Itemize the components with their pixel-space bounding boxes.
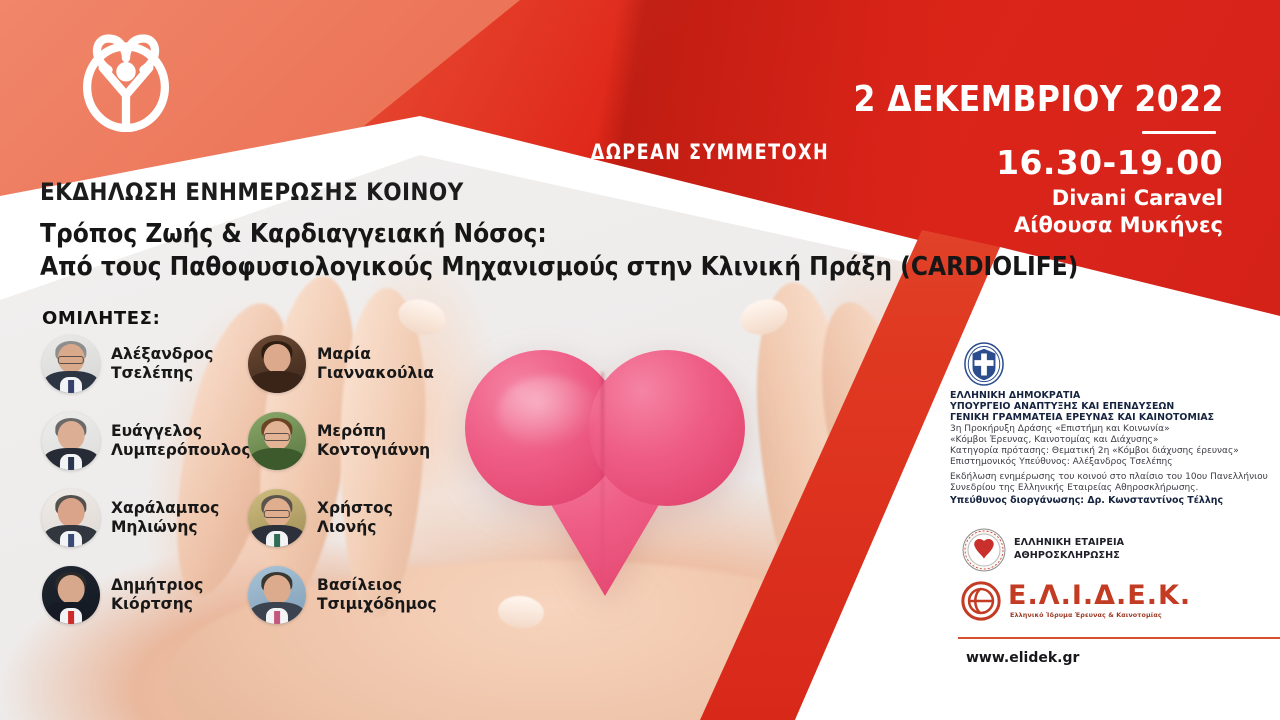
sponsor-body-line-4: Επιστημονικός Υπεύθυνος: Αλέξανδρος Τσελ…: [950, 457, 1173, 468]
speaker-name: Χρήστος Λιονής: [317, 499, 393, 537]
organizer-line: Υπεύθυνος διοργάνωσης: Δρ. Κωνσταντίνος …: [950, 495, 1223, 506]
greek-coat-of-arms-icon: [963, 341, 1005, 387]
venue-hall: Αίθουσα Μυκήνες: [1014, 213, 1223, 237]
avatar: [42, 335, 100, 393]
avatar: [248, 412, 306, 470]
sponsor-body-line-5: Εκδήλωση ενημέρωσης του κοινού στο πλαίσ…: [950, 472, 1268, 483]
speaker-item: Δημήτριος Κιόρτσης: [42, 566, 203, 624]
speaker-name: Μαρία Γιαννακούλια: [317, 345, 434, 383]
divider-rule: [1142, 131, 1216, 134]
speaker-item: Αλέξανδρος Τσελέπης: [42, 335, 213, 393]
speakers-label: ΟΜΙΛΗΤΕΣ:: [42, 308, 160, 329]
avatar: [42, 566, 100, 624]
website-url[interactable]: www.elidek.gr: [966, 650, 1079, 666]
elidek-wordmark: Ε.Λ.Ι.Δ.Ε.Κ.: [1008, 580, 1191, 611]
speaker-name: Δημήτριος Κιόρτσης: [111, 576, 203, 614]
sponsor-body-line-6: Συνεδρίου της Ελληνικής Εταιρείας Αθηροσ…: [950, 483, 1198, 494]
avatar: [42, 489, 100, 547]
event-time: 16.30-19.00: [996, 143, 1223, 182]
venue-name: Divani Caravel: [1052, 186, 1223, 210]
atherosclerosis-society-logo-icon: [962, 528, 1006, 572]
event-date: 2 ΔΕΚΕΜΒΡΙΟΥ 2022: [854, 79, 1224, 120]
avatar: [248, 335, 306, 393]
society-line-2: ΑΘΗΡΟΣΚΛΗΡΩΣΗΣ: [1014, 550, 1120, 561]
free-participation-label: ΔΩΡΕΑΝ ΣΥΜΜΕΤΟΧΗ: [571, 140, 850, 164]
sponsor-body-line-2: «Κόμβοι Έρευνας, Καινοτομίας και Διάχυση…: [950, 435, 1158, 446]
gov-line-1: ΕΛΛΗΝΙΚΗ ΔΗΜΟΚΡΑΤΙΑ: [950, 390, 1080, 401]
avatar: [248, 489, 306, 547]
avatar: [42, 412, 100, 470]
sponsor-body-line-3: Κατηγορία πρότασης: Θεματική 2η «Κόμβοι …: [950, 446, 1239, 457]
heart-person-logo-icon: [77, 27, 175, 132]
speaker-item: Μερόπη Κοντογιάννη: [248, 412, 430, 470]
speaker-name: Μερόπη Κοντογιάννη: [317, 422, 430, 460]
speaker-name: Χαράλαμπος Μηλιώνης: [111, 499, 219, 537]
gov-line-2: ΥΠΟΥΡΓΕΙΟ ΑΝΑΠΤΥΞΗΣ ΚΑΙ ΕΠΕΝΔΥΣΕΩΝ: [950, 401, 1174, 412]
speaker-name: Αλέξανδρος Τσελέπης: [111, 345, 213, 383]
society-line-1: ΕΛΛΗΝΙΚΗ ΕΤΑΙΡΕΙΑ: [1014, 537, 1124, 548]
pink-heart-icon: [465, 350, 745, 612]
page-title-line-2: Από τους Παθοφυσιολογικούς Μηχανισμούς σ…: [40, 252, 1078, 282]
speaker-item: Μαρία Γιαννακούλια: [248, 335, 434, 393]
page-title-line-1: Τρόπος Ζωής & Καρδιαγγειακή Νόσος:: [40, 219, 547, 249]
footer-divider: [958, 637, 1280, 639]
speaker-item: Βασίλειος Τσιμιχόδημος: [248, 566, 437, 624]
event-poster: ΔΩΡΕΑΝ ΣΥΜΜΕΤΟΧΗ 2 ΔΕΚΕΜΒΡΙΟΥ 2022 16.30…: [0, 0, 1280, 720]
elidek-logo-icon: Ε.Λ.Ι.Δ.Ε.Κ. Ελληνικό Ίδρυμα Έρευνας & Κ…: [960, 580, 1152, 624]
gov-line-3: ΓΕΝΙΚΗ ΓΡΑΜΜΑΤΕΙΑ ΕΡΕΥΝΑΣ ΚΑΙ ΚΑΙΝΟΤΟΜΙΑ…: [950, 412, 1214, 423]
speaker-item: Χαράλαμπος Μηλιώνης: [42, 489, 219, 547]
avatar: [248, 566, 306, 624]
sponsor-body-line-1: 3η Προκήρυξη Δράσης «Επιστήμη και Κοινων…: [950, 424, 1170, 435]
elidek-subtitle: Ελληνικό Ίδρυμα Έρευνας & Καινοτομίας: [1010, 611, 1162, 619]
speaker-name: Βασίλειος Τσιμιχόδημος: [317, 576, 437, 614]
speaker-name: Ευάγγελος Λυμπερόπουλος: [111, 422, 251, 460]
speaker-item: Ευάγγελος Λυμπερόπουλος: [42, 412, 251, 470]
event-kicker: ΕΚΔΗΛΩΣΗ ΕΝΗΜΕΡΩΣΗΣ ΚΟΙΝΟΥ: [40, 178, 464, 206]
speaker-item: Χρήστος Λιονής: [248, 489, 393, 547]
